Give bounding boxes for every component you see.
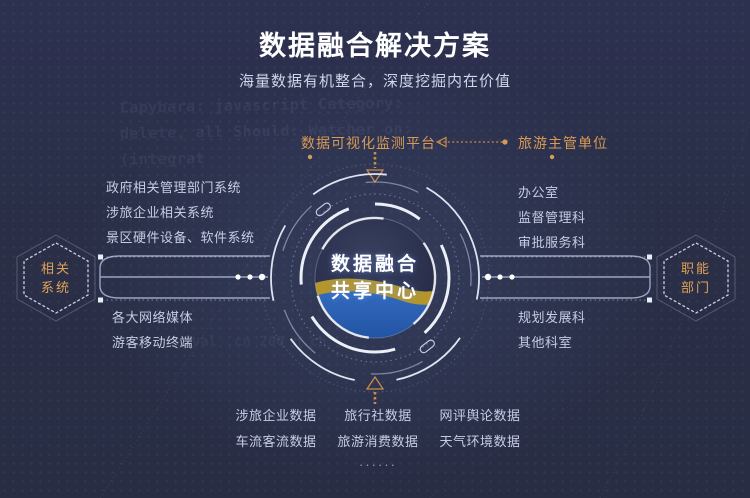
- page-title: 数据融合解决方案: [0, 24, 750, 63]
- data-fusion-core[interactable]: 数据融合 共享中心: [255, 158, 495, 398]
- hexagon-left-label: 相关 系统: [12, 232, 100, 324]
- left-bottom-source-list: 各大网络媒体 游客移动终端: [112, 305, 193, 355]
- page-subtitle: 海量数据有机整合，深度挖掘内在价值: [0, 70, 750, 91]
- grid-cell: 旅行社数据: [330, 405, 426, 424]
- grid-ellipsis: ······: [228, 457, 528, 472]
- core-rings: [255, 158, 495, 398]
- list-item: 游客移动终端: [112, 330, 193, 355]
- grid-cell: 车流客流数据: [228, 431, 324, 450]
- left-top-source-list: 政府相关管理部门系统 涉旅企业相关系统 景区硬件设备、软件系统: [106, 175, 255, 250]
- grid-cell: 网评舆论数据: [432, 405, 528, 424]
- list-item: 政府相关管理部门系统: [106, 175, 255, 200]
- label-visualization-platform: 数据可视化监测平台: [301, 133, 436, 153]
- hexagon-right-line1: 职能: [681, 259, 711, 278]
- right-top-department-list: 办公室 监督管理科 审批服务科: [518, 180, 586, 255]
- hexagon-left-line2: 系统: [41, 278, 71, 297]
- list-item: 办公室: [518, 180, 586, 205]
- grid-cell: 涉旅企业数据: [228, 405, 324, 424]
- list-item: 监督管理科: [518, 205, 586, 230]
- list-item: 规划发展科: [518, 305, 586, 330]
- list-item: 涉旅企业相关系统: [106, 200, 255, 225]
- hexagon-right-label: 职能 部门: [652, 232, 740, 324]
- hexagon-related-systems[interactable]: 相关 系统: [12, 232, 100, 324]
- right-bottom-department-list: 规划发展科 其他科室: [518, 305, 586, 355]
- list-item: 各大网络媒体: [112, 305, 193, 330]
- hexagon-left-line1: 相关: [41, 259, 71, 278]
- grid-cell: 天气环境数据: [432, 431, 528, 450]
- list-item: 其他科室: [518, 330, 586, 355]
- hexagon-right-line2: 部门: [681, 278, 711, 297]
- grid-row: 涉旅企业数据 旅行社数据 网评舆论数据: [228, 405, 528, 424]
- label-tourism-authority: 旅游主管单位: [518, 133, 608, 153]
- grid-row: 车流客流数据 旅游消费数据 天气环境数据: [228, 431, 528, 450]
- list-item: 审批服务科: [518, 230, 586, 255]
- dotted-left-arrow-icon: [421, 134, 513, 150]
- poster-canvas: Capybara: javascript Category: delete, a…: [0, 0, 750, 498]
- list-item: 景区硬件设备、软件系统: [106, 225, 255, 250]
- grid-cell: 旅游消费数据: [330, 431, 426, 450]
- hexagon-functional-departments[interactable]: 职能 部门: [652, 232, 740, 324]
- bottom-data-source-grid: 涉旅企业数据 旅行社数据 网评舆论数据 车流客流数据 旅游消费数据 天气环境数据…: [228, 405, 528, 472]
